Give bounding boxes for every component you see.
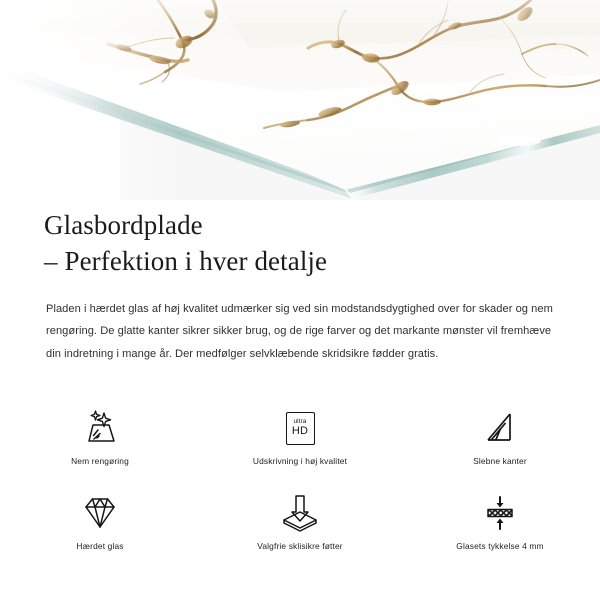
ultra-hd-large-text: HD xyxy=(292,426,308,437)
ultra-hd-box: ultra HD xyxy=(286,412,315,445)
hero-product-image xyxy=(0,0,600,200)
feature-glass-thickness: Glasets tykkelse 4 mm xyxy=(400,483,600,568)
sparkle-surface-icon xyxy=(78,406,122,450)
diamond-icon xyxy=(78,491,122,535)
polished-edges-icon xyxy=(480,406,520,450)
feature-easy-cleaning: Nem rengøring xyxy=(0,398,200,483)
feature-label-polished-edges: Slebne kanter xyxy=(473,456,527,466)
feature-polished-edges: Slebne kanter xyxy=(400,398,600,483)
feature-grid: Nem rengøring ultra HD Udskrivning i høj… xyxy=(0,398,600,568)
thickness-icon xyxy=(478,491,522,535)
feature-label-glass-thickness: Glasets tykkelse 4 mm xyxy=(456,541,543,551)
feature-label-tempered-glass: Hærdet glas xyxy=(76,541,123,551)
arrow-pad-icon xyxy=(278,491,322,535)
top-fade-overlay xyxy=(0,0,600,34)
product-description: Pladen i hærdet glas af høj kvalitet udm… xyxy=(0,280,600,366)
content-section: Glasbordplade – Perfektion i hver detalj… xyxy=(0,200,600,365)
feature-label-anti-slip-feet: Valgfrie sklisikre føtter xyxy=(257,541,343,551)
glass-table-top-illustration xyxy=(0,0,600,200)
feature-label-print-quality: Udskrivning i høj kvalitet xyxy=(253,456,347,466)
feature-print-quality: ultra HD Udskrivning i høj kvalitet xyxy=(200,398,400,483)
ultra-hd-icon: ultra HD xyxy=(286,406,315,450)
page-title-line-1: Glasbordplade xyxy=(44,208,556,244)
page-title-line-2: – Perfektion i hver detalje xyxy=(44,244,556,280)
page-title: Glasbordplade – Perfektion i hver detalj… xyxy=(0,200,600,280)
feature-anti-slip-feet: Valgfrie sklisikre føtter xyxy=(200,483,400,568)
edge-highlight xyxy=(497,136,541,146)
feature-label-easy-cleaning: Nem rengøring xyxy=(71,456,129,466)
feature-tempered-glass: Hærdet glas xyxy=(0,483,200,568)
